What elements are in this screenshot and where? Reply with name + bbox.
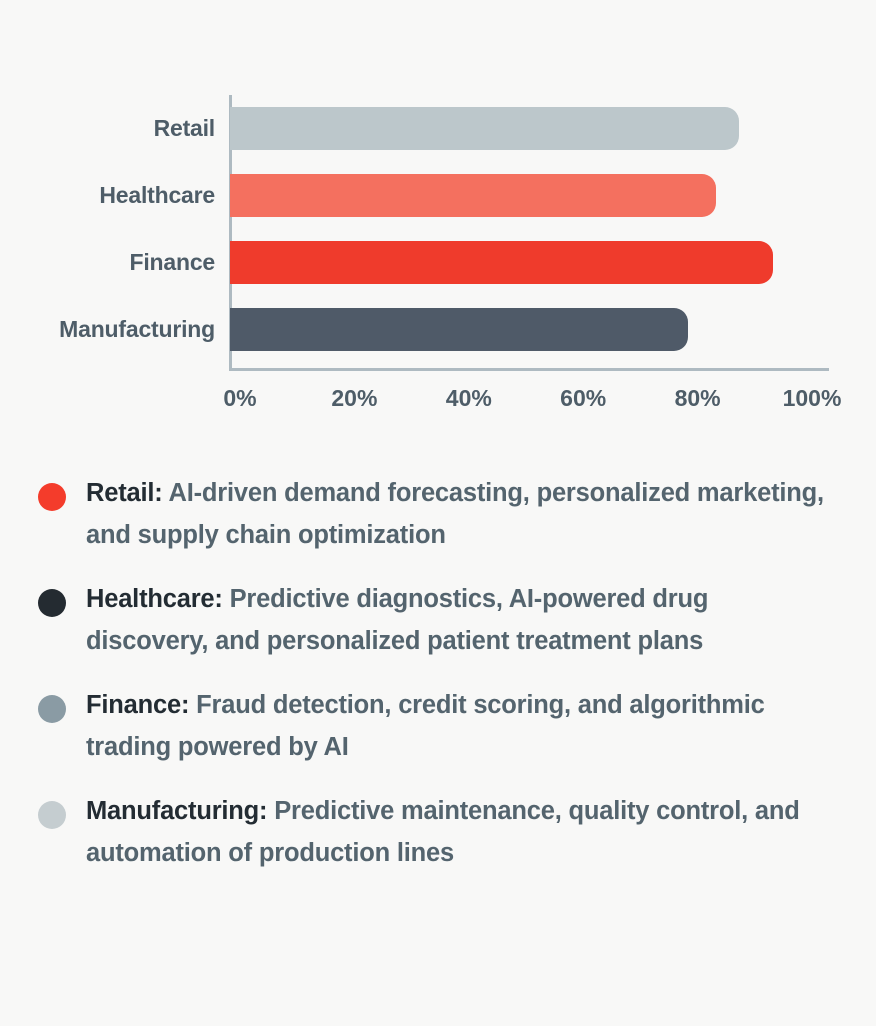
- legend-dot-icon-healthcare: [38, 589, 66, 617]
- legend-dot-icon-retail: [38, 483, 66, 511]
- bar-row-manufacturing: [230, 296, 870, 363]
- x-tick-100: 100%: [783, 385, 842, 412]
- legend-text-retail: Retail: AI-driven demand forecasting, pe…: [86, 472, 836, 556]
- legend-item-retail[interactable]: Retail: AI-driven demand forecasting, pe…: [0, 472, 876, 556]
- bar-manufacturing[interactable]: [230, 308, 688, 351]
- y-axis-label-healthcare: Healthcare: [0, 162, 215, 229]
- x-axis-tick-labels: 0% 20% 40% 60% 80% 100%: [0, 385, 876, 419]
- legend-item-finance[interactable]: Finance: Fraud detection, credit scoring…: [0, 684, 876, 768]
- bar-row-healthcare: [230, 162, 870, 229]
- bar-row-retail: [230, 95, 870, 162]
- legend-item-healthcare[interactable]: Healthcare: Predictive diagnostics, AI-p…: [0, 578, 876, 662]
- legend-term-healthcare: Healthcare:: [86, 585, 223, 613]
- legend-text-finance: Finance: Fraud detection, credit scoring…: [86, 684, 836, 768]
- x-tick-80: 80%: [675, 385, 721, 412]
- x-tick-40: 40%: [446, 385, 492, 412]
- chart-page: Retail Healthcare Finance Manufacturing …: [0, 0, 876, 1026]
- bar-healthcare[interactable]: [230, 174, 716, 217]
- legend-dot-icon-manufacturing: [38, 801, 66, 829]
- legend-text-healthcare: Healthcare: Predictive diagnostics, AI-p…: [86, 578, 836, 662]
- y-axis-category-labels: Retail Healthcare Finance Manufacturing: [0, 95, 215, 363]
- bar-chart: Retail Healthcare Finance Manufacturing …: [0, 0, 876, 430]
- legend-text-manufacturing: Manufacturing: Predictive maintenance, q…: [86, 790, 836, 874]
- bar-series: [230, 95, 870, 363]
- x-tick-0: 0%: [223, 385, 256, 412]
- y-axis-label-retail: Retail: [0, 95, 215, 162]
- x-axis-line: [229, 368, 829, 371]
- y-axis-label-finance: Finance: [0, 229, 215, 296]
- legend: Retail: AI-driven demand forecasting, pe…: [0, 472, 876, 896]
- legend-term-retail: Retail:: [86, 479, 163, 507]
- x-tick-60: 60%: [560, 385, 606, 412]
- legend-description-retail: AI-driven demand forecasting, personaliz…: [86, 479, 824, 549]
- x-tick-20: 20%: [331, 385, 377, 412]
- bar-finance[interactable]: [230, 241, 773, 284]
- bar-retail[interactable]: [230, 107, 739, 150]
- legend-term-finance: Finance:: [86, 691, 189, 719]
- legend-item-manufacturing[interactable]: Manufacturing: Predictive maintenance, q…: [0, 790, 876, 874]
- legend-term-manufacturing: Manufacturing:: [86, 797, 267, 825]
- legend-dot-icon-finance: [38, 695, 66, 723]
- bar-row-finance: [230, 229, 870, 296]
- y-axis-label-manufacturing: Manufacturing: [0, 296, 215, 363]
